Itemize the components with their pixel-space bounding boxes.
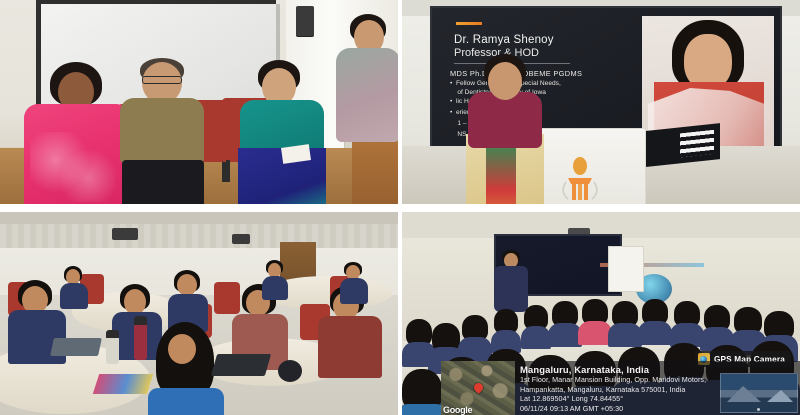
speaker-at-podium	[468, 54, 542, 208]
water-bottle	[134, 316, 147, 360]
wallpaper-thumbnail	[720, 373, 798, 413]
speaker-intro-scene: Dr. Ramya Shenoy Professor & HOD MDS Ph.…	[402, 0, 800, 204]
speaker-at-lectern	[334, 14, 400, 208]
ceiling-projector-icon	[112, 228, 138, 240]
seated-attendee	[462, 315, 488, 357]
photo-panel-top-right[interactable]: Dr. Ramya Shenoy Professor & HOD MDS Ph.…	[400, 0, 800, 208]
navy-uniform	[60, 283, 88, 309]
photo-collage: Dr. Ramya Shenoy Professor & HOD MDS Ph.…	[0, 0, 800, 415]
gps-address-line-1: 1st Floor, Manar Mansion Building, Opp. …	[520, 375, 700, 384]
backpack	[278, 360, 302, 382]
water-bottle	[106, 330, 119, 364]
seated-guest-teal	[238, 60, 326, 208]
photo-panel-bottom-left[interactable]	[0, 208, 400, 415]
photo-panel-top-left[interactable]	[0, 0, 400, 208]
lecture-hall-rear-scene: GPS Map Camera Google Mangaluru, Karnata…	[402, 212, 800, 415]
seated-attendee	[524, 305, 548, 345]
seated-attendee	[674, 301, 700, 343]
gps-map-thumbnail: Google	[441, 361, 515, 415]
slide-speaker-name: Dr. Ramya Shenoy	[454, 34, 554, 47]
thumbnail-indicator	[757, 408, 760, 411]
slide-accent-bar	[456, 22, 482, 25]
gps-address-line-2: Hampankatta, Mangaluru, Karnataka 575001…	[520, 385, 700, 394]
seated-attendee	[402, 369, 442, 415]
laptop	[211, 354, 271, 376]
face	[488, 62, 522, 100]
ceiling-band	[0, 212, 398, 224]
navy-uniform	[262, 276, 288, 300]
seated-attendee	[552, 301, 578, 343]
blue-top	[148, 388, 224, 415]
participant	[340, 262, 368, 302]
face	[168, 334, 196, 364]
mountain-shape	[727, 386, 761, 402]
seated-attendee	[494, 309, 518, 349]
dupatta	[30, 132, 116, 202]
khaki-shirt	[120, 98, 204, 164]
seated-attendee	[642, 299, 668, 341]
maroon-blouse	[468, 92, 542, 148]
seated-attendee	[612, 301, 638, 343]
board-graphic	[680, 130, 714, 158]
navy-uniform	[340, 278, 368, 304]
wall-speaker-icon	[296, 6, 314, 36]
seated-attendee	[582, 299, 608, 341]
seated-guest-man	[116, 56, 208, 208]
gps-coordinates: Lat 12.869504° Long 74.84455°	[520, 394, 700, 403]
participant	[60, 266, 88, 308]
grey-saree	[336, 48, 400, 142]
mountain-shape	[767, 390, 793, 402]
saree-pallu	[486, 140, 516, 208]
gps-city: Mangaluru, Karnataka, India	[520, 364, 700, 376]
institution-logo-icon	[554, 156, 606, 204]
seated-attendee	[704, 305, 730, 347]
gps-timestamp: 06/11/24 09:13 AM GMT +05:30	[520, 404, 700, 413]
printed-handout	[93, 374, 153, 394]
trousers	[122, 160, 204, 208]
ceiling-projector-icon	[232, 234, 250, 244]
spectacles-icon	[142, 76, 182, 84]
checked-shirt	[318, 316, 382, 378]
dais-scene	[0, 0, 398, 204]
audience-tables-scene	[0, 212, 398, 415]
google-attribution: Google	[443, 405, 472, 415]
gps-location-text: Mangaluru, Karnataka, India 1st Floor, M…	[520, 364, 700, 413]
participant	[262, 260, 288, 298]
face	[177, 274, 197, 296]
photo-panel-bottom-right[interactable]: GPS Map Camera Google Mangaluru, Karnata…	[400, 208, 800, 415]
laptop-sleeve	[50, 338, 102, 356]
